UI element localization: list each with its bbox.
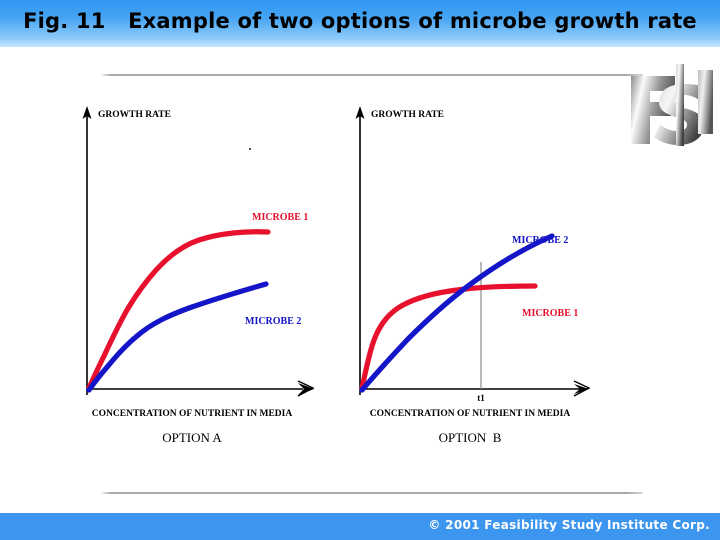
y-axis-label: GROWTH RATE [371, 110, 444, 120]
y-axis [83, 106, 92, 395]
y-axis-label: GROWTH RATE [98, 110, 171, 120]
x-axis [87, 381, 314, 396]
logo-letter-i [698, 70, 713, 134]
label-microbe-2: MICROBE 2 [512, 235, 568, 246]
header-bar: Fig. 11 Example of two options of microb… [0, 0, 720, 47]
y-axis [356, 106, 365, 395]
footer-bar: © 2001 Feasibility Study Institute Corp. [0, 513, 720, 540]
label-microbe-1: MICROBE 1 [522, 308, 578, 319]
copyright-notice: © 2001 Feasibility Study Institute Corp. [428, 518, 710, 532]
label-microbe-1: MICROBE 1 [252, 212, 308, 223]
t1-tick-label: t1 [477, 393, 485, 403]
page-title: Fig. 11 Example of two options of microb… [0, 9, 720, 33]
stray-artifact-dot [249, 148, 251, 150]
caption-option-b: OPTION B [320, 430, 620, 446]
divider-bottom [100, 492, 643, 494]
divider-top [100, 74, 643, 76]
caption-option-a: OPTION A [42, 430, 342, 446]
label-microbe-2: MICROBE 2 [245, 316, 301, 327]
chart-option-b: GROWTH RATE MICROBE 2 MICROBE 1 t1 CONCE… [340, 100, 640, 455]
x-axis [360, 381, 589, 396]
x-axis-label: CONCENTRATION OF NUTRIENT IN MEDIA [92, 409, 293, 419]
x-axis-label: CONCENTRATION OF NUTRIENT IN MEDIA [370, 409, 571, 419]
chart-option-a: GROWTH RATE MICROBE 1 MICROBE 2 CONCENTR… [60, 100, 360, 455]
